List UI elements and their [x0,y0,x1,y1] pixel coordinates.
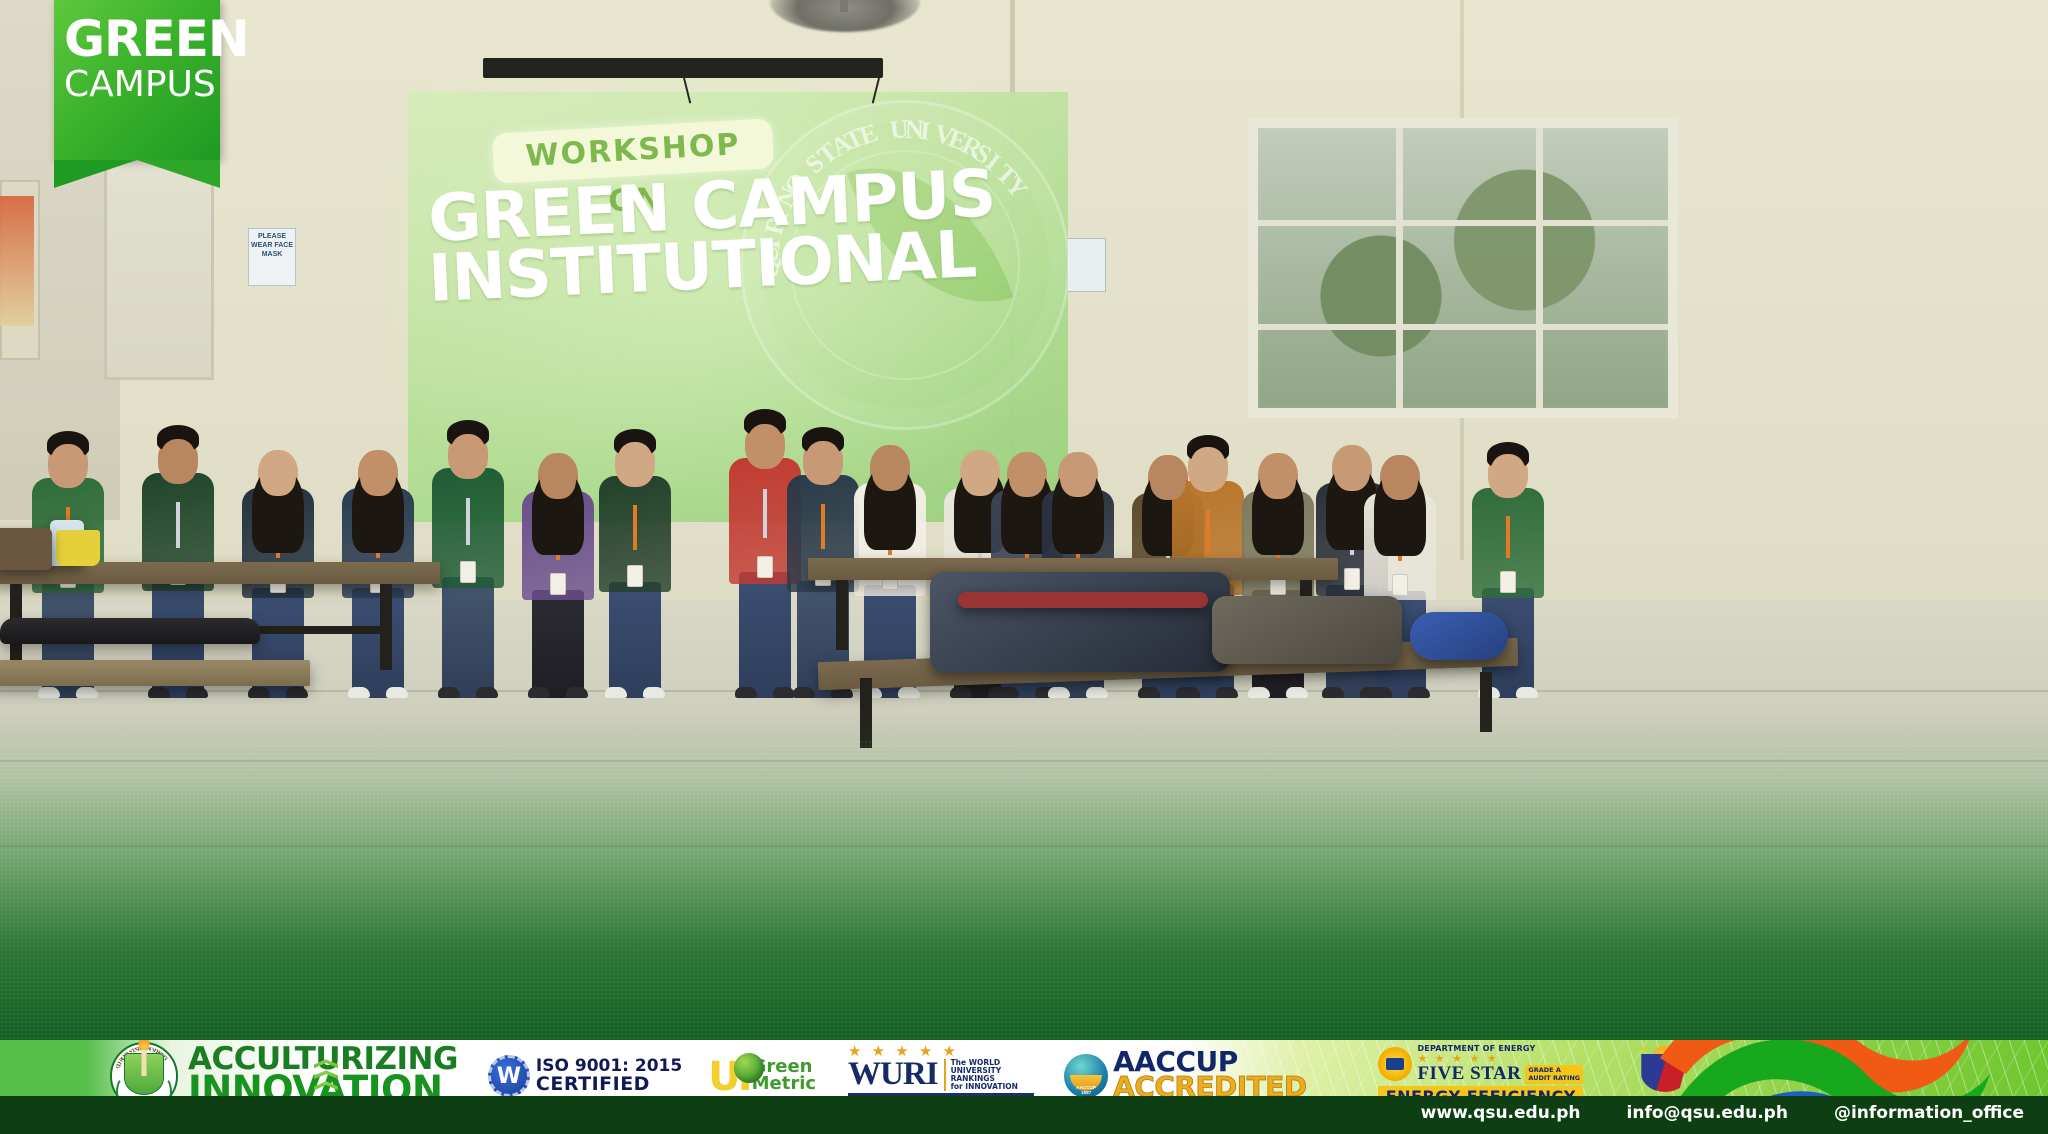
attendee-face [1150,458,1186,500]
attendee-shoe-right [286,687,308,698]
attendee-shoe-left [1322,687,1344,698]
attendee-face [1190,447,1226,489]
ribbon-body: GREEN CAMPUS [54,0,220,160]
attendee-shoe-left [793,687,815,698]
aaccup-globe-caption: AACCUP 1987 [1076,1085,1096,1095]
id-badge [757,556,773,578]
ribbon-notch [54,160,220,188]
attendee-shoe-left [950,687,972,698]
footer-link-social[interactable]: @information_office [1834,1103,2024,1123]
logo-iso-9001: W ISO 9001: 2015 CERTIFIED [488,1055,682,1097]
attendee-face [1060,455,1096,497]
attendee-shoe-left [528,687,550,698]
attendee-shoe-left [1048,687,1070,698]
attendee-face [1382,458,1418,500]
ceiling-fan-rod [840,0,848,12]
attendee-shoe-left [148,687,170,698]
iso-text-group: ISO 9001: 2015 CERTIFIED [536,1058,682,1094]
attendee [587,434,683,698]
aaccup-globe-icon: AACCUP 1987 [1064,1054,1108,1098]
aaccup-badge-year: 1987 [1076,1090,1096,1095]
footer-link-email[interactable]: info@qsu.edu.ph [1627,1103,1788,1123]
attendee-shoe-right [566,687,588,698]
backpack-navy [930,572,1230,672]
attendee-shoe-left [38,687,60,698]
ribbon-line-2: CAMPUS [64,64,220,106]
seal-flame [139,1040,150,1050]
attendee-legs [609,582,661,698]
doe-text-group: DEPARTMENT OF ENERGY ★ ★ ★ ★ ★ FIVE STAR… [1417,1045,1583,1084]
attendee-face [160,439,196,481]
footer-link-website[interactable]: www.qsu.edu.ph [1421,1103,1581,1123]
wuri-main-row: WURI The WORLD UNIVERSITY RANKINGS for I… [848,1059,1034,1091]
attendee-shoe-right [476,687,498,698]
brown-bag [0,528,52,570]
attendee-shoe-right [76,687,98,698]
lanyard [1206,510,1210,554]
attendee-shoe-left [438,687,460,698]
attendee-face [260,454,296,496]
attendee-legs [442,577,494,698]
chevron-up-icon [314,1059,338,1097]
uigm-line-2: Metric [752,1076,816,1093]
lanyard [633,505,637,550]
id-badge [460,561,476,583]
attendee-face [1260,457,1296,499]
attendee-face [1009,455,1045,497]
attendee-shoe-left [1370,687,1392,698]
attendee-face [805,441,841,483]
attendee-face [50,444,86,486]
attendee-shoe-left [997,687,1019,698]
projector-mount-rail [483,58,883,78]
green-overlay-texture [0,740,2048,1040]
attendee-shoe-right [898,687,920,698]
bag-grey [1212,596,1402,664]
attendee-shoe-right [1086,687,1108,698]
doe-sunburst-icon [1378,1047,1412,1081]
footer-contact-links: www.qsu.edu.ph info@qsu.edu.ph @informat… [1421,1096,2024,1130]
green-campus-ribbon-badge: GREEN CAMPUS [54,0,220,188]
attendee-shoe-right [643,687,665,698]
id-badge [627,565,643,587]
attendee-shoe-right [186,687,208,698]
wuri-wordmark: WURI [848,1059,938,1090]
attendee-legs [352,588,404,698]
attendee-shoe-right [1408,687,1430,698]
backpack-red-zipper [958,592,1208,608]
seal-torch [142,1046,147,1076]
wuri-descriptor: The WORLD UNIVERSITY RANKINGS for INNOVA… [944,1059,1018,1091]
attendee-shoe-right [1516,687,1538,698]
attendee-shoe-left [1248,687,1270,698]
lanyard [176,502,180,548]
bench-left [0,660,310,686]
attendee-face [962,454,998,496]
logo-ui-greenmetric: UI Green Metric World University Ranking… [708,1059,816,1092]
attendee-shoe-left [605,687,627,698]
doe-rating-label: FIVE STAR [1417,1064,1521,1084]
ribbon-line-1: GREEN [64,14,220,64]
lanyard [466,498,470,545]
folded-umbrella-blue [1410,612,1508,660]
doe-grade-badge: GRADE A AUDIT RATING [1525,1065,1583,1084]
lanyard [1506,516,1510,559]
attendee-shoe-left [348,687,370,698]
lanyard [821,504,825,549]
iso-line-2: CERTIFIED [536,1075,682,1094]
id-badge [550,573,566,595]
attendee-shoe-right [386,687,408,698]
attendee-face [450,434,486,476]
doe-top-row: DEPARTMENT OF ENERGY ★ ★ ★ ★ ★ FIVE STAR… [1378,1045,1583,1084]
attendee [420,424,516,698]
attendee-face [747,424,783,466]
attendee-shoe-left [735,687,757,698]
event-photograph: PLEASE WEAR FACE MASK QUIRINO STATE UNIV… [0,0,2048,1040]
attendee-face [872,449,908,491]
paper-cup [56,530,100,566]
attendee-shoe-left [1178,687,1200,698]
attendee-face [1490,454,1526,496]
id-badge [1500,571,1516,593]
lanyard [763,489,767,538]
iso-seal-icon: W [488,1055,530,1097]
chair-seat-left [0,618,260,644]
ribbon-text-group: GREEN CAMPUS [54,0,220,106]
id-badge [1392,574,1408,596]
attendee-legs [532,590,584,698]
poster-canvas: PLEASE WEAR FACE MASK QUIRINO STATE UNIV… [0,0,2048,1134]
attendee-shoe-left [1138,687,1160,698]
doe-grade-line-2: AUDIT RATING [1528,1075,1580,1082]
attendee-face [1334,449,1370,491]
wuri-descriptor-4: for INNOVATION [951,1083,1018,1091]
attendee-shoe-left [248,687,270,698]
attendee-face [360,454,396,496]
table-leg [836,580,848,650]
attendee-face [540,457,576,499]
attendee-face [617,442,653,484]
